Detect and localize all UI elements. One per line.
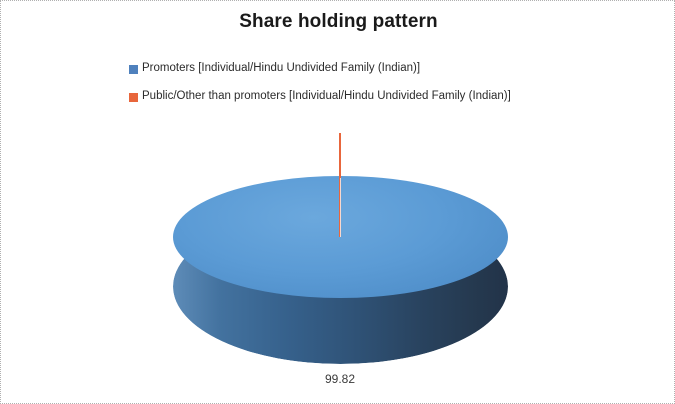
pie-slice-divider: [340, 178, 341, 237]
data-label-large-slice: 99.82: [280, 372, 400, 386]
chart-container: Share holding pattern Promoters [Individ…: [0, 0, 675, 404]
pie-plot-area: 0.18 99.82: [1, 101, 675, 401]
legend-label-promoters: Promoters [Individual/Hindu Undivided Fa…: [142, 63, 420, 75]
legend-item-promoters[interactable]: Promoters [Individual/Hindu Undivided Fa…: [129, 55, 599, 83]
pie-3d-graphic: [173, 176, 508, 366]
chart-title: Share holding pattern: [1, 11, 675, 33]
data-label-leader-line: [339, 133, 341, 177]
legend-swatch-icon-promoters: [129, 65, 138, 74]
